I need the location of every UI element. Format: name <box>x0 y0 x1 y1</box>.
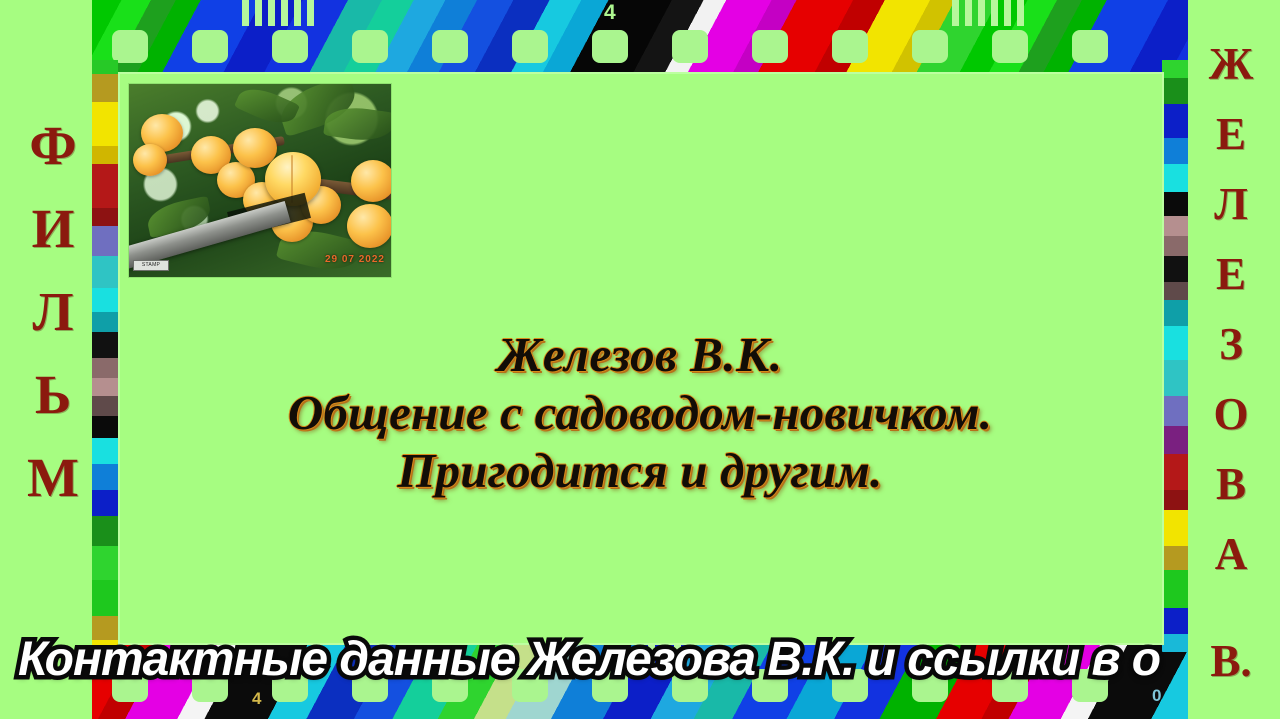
vertical-letter: Л <box>18 284 88 339</box>
filmstrip-tick <box>991 0 998 26</box>
filmstrip-tick <box>268 0 275 26</box>
filmstrip-tick <box>978 0 985 26</box>
filmstrip-tick <box>255 0 262 26</box>
title-line-note: Пригодится и другим. <box>130 442 1150 500</box>
sprocket-hole <box>272 30 308 63</box>
sprocket-hole <box>672 30 708 63</box>
filmstrip-tick <box>281 0 288 26</box>
vertical-letter: О <box>1196 392 1266 437</box>
vertical-letter: М <box>18 450 88 505</box>
vertical-letter: В <box>1196 462 1266 507</box>
filmstrip-tick <box>952 0 959 26</box>
vertical-letter: Е <box>1196 252 1266 297</box>
vertical-letter: З <box>1196 322 1266 367</box>
film-edge-strip-left <box>92 60 118 652</box>
sprocket-hole <box>1072 30 1108 63</box>
vertical-letter: Л <box>1196 182 1266 227</box>
sprocket-hole <box>352 30 388 63</box>
main-title-block: Железов В.К. Общение с садоводом-новичко… <box>130 326 1150 499</box>
sprocket-hole <box>752 30 788 63</box>
filmstrip-tick <box>294 0 301 26</box>
photo-datestamp: 29 07 2022 <box>325 254 385 265</box>
filmstrip-tick <box>965 0 972 26</box>
sprocket-hole <box>112 30 148 63</box>
filmstrip-tick-group-left <box>242 0 314 26</box>
sprocket-hole <box>432 30 468 63</box>
vertical-letter: Ь <box>18 367 88 422</box>
filmstrip-tick <box>1004 0 1011 26</box>
filmstrip-sprocket-row-top <box>92 28 1188 64</box>
sprocket-hole <box>832 30 868 63</box>
vertical-label-film: Ф И Л Ь М <box>18 118 88 533</box>
filmstrip-tick <box>242 0 249 26</box>
title-line-subject: Общение с садоводом-новичком. <box>130 384 1150 442</box>
title-slide: 4 4 0 <box>0 0 1280 719</box>
filmstrip-tick-group-right <box>952 0 1024 26</box>
filmstrip-top: 4 <box>92 0 1188 72</box>
vertical-letter: Ж <box>1196 42 1266 87</box>
title-line-author: Железов В.К. <box>130 326 1150 384</box>
film-edge-strip-right <box>1162 60 1188 652</box>
sprocket-hole <box>592 30 628 63</box>
sprocket-hole <box>192 30 228 63</box>
photo-camera-chip: STAMP <box>133 260 169 271</box>
filmstrip-tick <box>1017 0 1024 26</box>
photo-apricot <box>133 144 167 176</box>
photo-apricot <box>347 204 392 248</box>
photo-apricot <box>351 160 392 202</box>
apricot-photo-thumbnail: STAMP 29 07 2022 <box>128 83 392 278</box>
sprocket-hole <box>512 30 548 63</box>
vertical-letter: И <box>18 201 88 256</box>
filmstrip-frame-number-top: 4 <box>604 2 616 23</box>
vertical-letter: Ф <box>18 118 88 173</box>
sprocket-hole <box>992 30 1028 63</box>
vertical-letter: А <box>1196 532 1266 577</box>
bottom-caption: Контактные данные Железова В.К. и ссылки… <box>18 636 1280 684</box>
sprocket-hole <box>912 30 948 63</box>
vertical-label-zhelezova: Ж Е Л Е З О В А В. <box>1196 42 1266 709</box>
filmstrip-tick <box>307 0 314 26</box>
vertical-letter: Е <box>1196 112 1266 157</box>
